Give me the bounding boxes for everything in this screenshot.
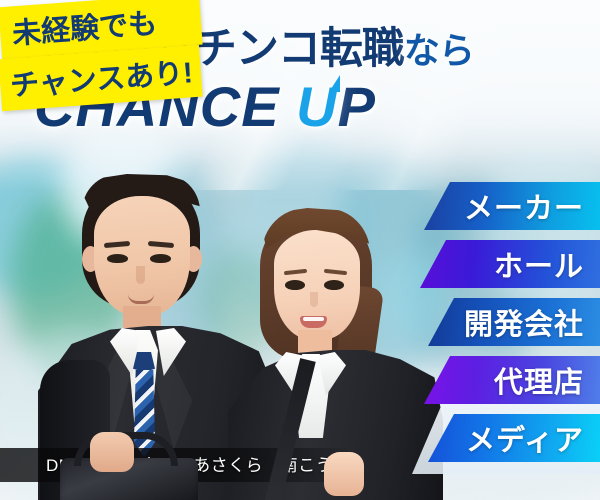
- headline-suffix: なら: [404, 30, 474, 71]
- category-tab-agency[interactable]: 代理店: [424, 356, 600, 404]
- category-tab-label: ホール: [494, 243, 584, 285]
- woman-eye-right: [324, 280, 344, 290]
- woman-hand: [324, 452, 364, 496]
- man-eye-left: [107, 254, 128, 263]
- category-tab-hall[interactable]: ホール: [420, 240, 600, 288]
- woman-nose: [310, 292, 318, 307]
- man-eye-right: [150, 254, 171, 263]
- category-tab-label: メーカー: [464, 185, 584, 227]
- category-tab-media[interactable]: メディア: [428, 414, 600, 462]
- category-tab-label: メディア: [466, 417, 584, 459]
- man-hand: [90, 432, 134, 472]
- man-tie-knot: [133, 352, 155, 372]
- man-nose: [136, 266, 145, 284]
- status-badge: 未経験でも チャンスあり!: [0, 0, 201, 104]
- woman-eye-left: [285, 280, 305, 290]
- promo-banner: 20代のパチンコ転職なら CHANCE UP 未経験でも チャンスあり! メーカ…: [0, 0, 600, 500]
- category-tab-developer[interactable]: 開発会社: [428, 298, 600, 346]
- category-tab-label: 開発会社: [464, 301, 584, 343]
- logo-letter-p: P: [338, 75, 376, 138]
- people-photo: [0, 145, 440, 500]
- woman-mouth: [300, 316, 327, 328]
- category-tab-maker[interactable]: メーカー: [424, 182, 600, 230]
- category-tab-label: 代理店: [494, 359, 584, 401]
- logo-letter-u: U: [296, 74, 337, 139]
